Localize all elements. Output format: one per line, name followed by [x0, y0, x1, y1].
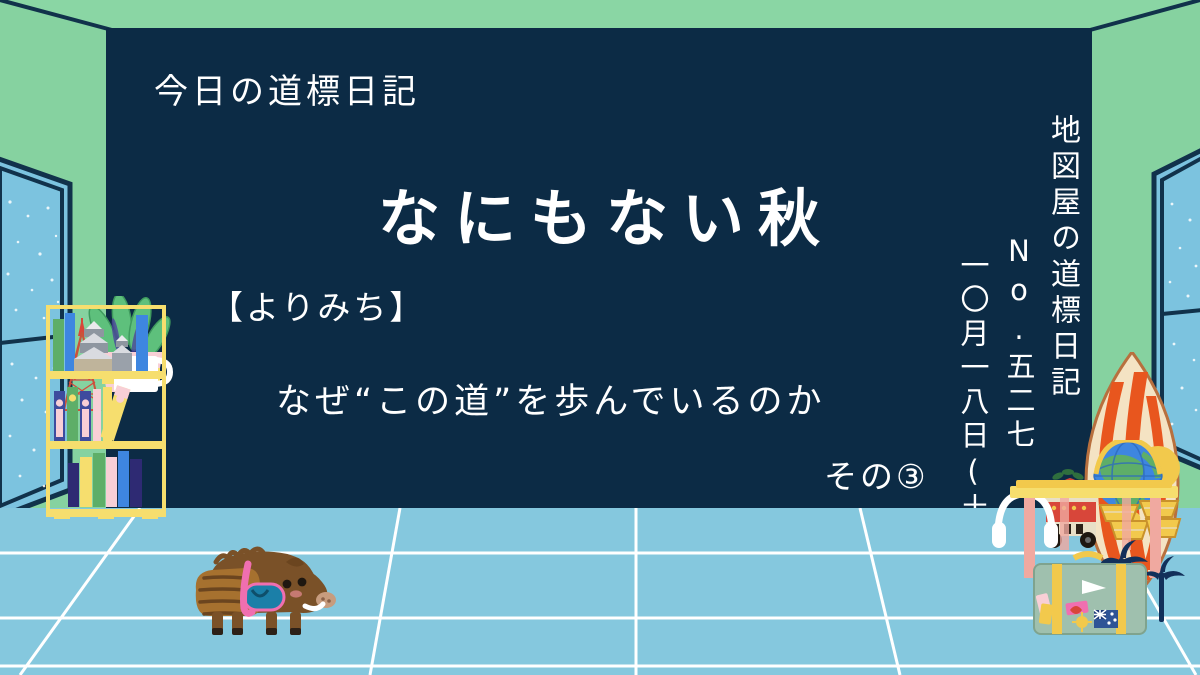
board-tail-label: その③ [824, 450, 929, 498]
board-kicker: 今日の道標日記 [154, 64, 420, 113]
board-headline: なにもない秋 [378, 168, 834, 258]
shelf-row-bottom [68, 451, 142, 507]
board-vertical-number: No.五二七 [998, 234, 1040, 453]
board-body-line: なぜ“この道”を歩んでいるのか [276, 373, 826, 424]
chalkboard: 今日の道標日記 なにもない秋 【よりみち】 なぜ“この道”を歩んでいるのか その… [106, 28, 1092, 508]
bookshelf [46, 305, 166, 525]
boar-with-snorkel [186, 528, 338, 638]
goggles-icon [244, 584, 284, 610]
suitcase [1030, 548, 1150, 640]
shelf-row-top [53, 313, 148, 371]
shelf-row-middle [54, 385, 130, 441]
slide-canvas: 今日の道標日記 なにもない秋 【よりみち】 なぜ“この道”を歩んでいるのか その… [0, 0, 1200, 675]
board-vertical-title: 地図屋の道標日記 [1040, 114, 1084, 402]
board-bracket-label: 【よりみち】 [210, 281, 425, 329]
board-vertical-date: 一〇月一八日(土 [952, 250, 994, 527]
